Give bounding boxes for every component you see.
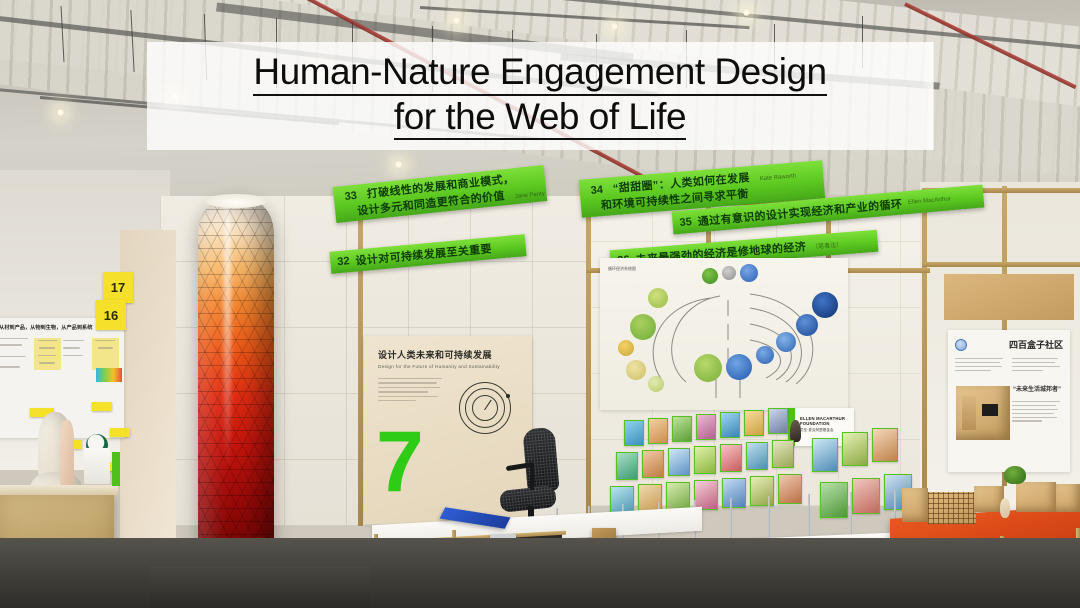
- diagram-node-blue: [796, 314, 818, 336]
- title-overlay: Human-Nature Engagement Design for the W…: [147, 42, 933, 150]
- exhibition-photo: 32 设计对可持续发展至关重要 33 打破线性的发展和商业模式， 设计多元和同造…: [0, 0, 1080, 608]
- sticky-note-16: 16: [96, 300, 126, 330]
- poster-card: [842, 432, 868, 466]
- ceiling-spotlight: [394, 160, 403, 169]
- architectural-model-box: [902, 488, 928, 522]
- poster-card: [720, 444, 742, 472]
- banner-credit: Jane Penty: [515, 190, 548, 200]
- floor-left-area: [150, 566, 370, 608]
- diagram-node-center: [722, 266, 736, 280]
- banner-number: 34: [583, 183, 609, 197]
- diagram-node-green: [648, 376, 664, 392]
- banner-number: 35: [672, 215, 698, 229]
- diagram-node-green: [626, 360, 646, 380]
- green-marker-tab: [112, 452, 120, 486]
- panel-numeral-7: 7: [376, 428, 424, 497]
- ceiling-spotlight: [56, 108, 65, 117]
- chair-backrest: [522, 427, 559, 494]
- dial-caption: [465, 376, 466, 380]
- sticky-note-small: [92, 402, 112, 411]
- logo-line-2: FOUNDATION: [800, 421, 850, 426]
- booth-frame-post: [922, 188, 927, 528]
- sticky-note-17: 17: [103, 272, 133, 303]
- sculpture-top-rim: [205, 194, 267, 208]
- timber-module-photo: [956, 386, 1010, 440]
- banner-number: 32: [330, 255, 356, 269]
- ceiling-spotlight: [452, 16, 461, 25]
- diagram-node-green: [648, 288, 668, 308]
- architectural-model-box: [1056, 484, 1080, 512]
- poster-card: [852, 478, 880, 514]
- title-line-2: for the Web of Life: [394, 97, 686, 141]
- poster-card: [648, 418, 668, 444]
- poster-card: [720, 412, 740, 438]
- poster-card: [642, 450, 664, 478]
- poster-card: [746, 442, 768, 470]
- right-exhibition-panel: 四百盒子社区 “未来生活城邦者”: [948, 330, 1070, 472]
- center-panel-title-cn: 设计人类未来和可持续发展: [378, 348, 522, 361]
- diagram-node-green: [630, 314, 656, 340]
- poster-card: [778, 474, 802, 504]
- potted-plant: [1004, 466, 1026, 484]
- red-3d-printed-column-sculpture: [198, 196, 274, 574]
- poster-card: [750, 476, 774, 506]
- poster-card: [820, 482, 848, 518]
- diagram-node-blue: [756, 346, 774, 364]
- title-line-1: Human-Nature Engagement Design: [253, 52, 826, 96]
- right-panel-quote: “未来生活城邦者”: [1012, 384, 1062, 393]
- model-figure: [1000, 498, 1010, 518]
- diagram-node-blue: [740, 264, 758, 282]
- ceiling-spotlight: [742, 8, 751, 17]
- poster-card: [694, 446, 716, 474]
- panel-icon: [955, 339, 967, 351]
- right-panel-model-strip: [944, 274, 1074, 320]
- diagram-node-blue: [812, 292, 838, 318]
- poster-card: [772, 440, 794, 468]
- banner-credit: Kate Raworth: [760, 173, 805, 183]
- gauge-endpoint-dot: [506, 394, 510, 398]
- sticky-note-label: 16: [104, 308, 118, 323]
- poster-card: [624, 420, 644, 446]
- sculpture-specular-highlight: [224, 204, 231, 469]
- poster-card: [668, 448, 690, 476]
- sticky-note-small: [110, 428, 130, 437]
- banner-credit: Ellen MacArthur: [908, 195, 959, 205]
- coffee-cup-prop: [84, 448, 110, 484]
- sticky-note-label: 17: [111, 280, 125, 295]
- architectural-model-box: [1016, 482, 1056, 512]
- diagram-node-green: [694, 354, 722, 382]
- poster-card: [672, 416, 692, 442]
- architectural-model-lattice: [928, 492, 976, 524]
- portrait-figure: [790, 420, 801, 442]
- sculpture-faceted-texture: [198, 196, 274, 574]
- banner-credit: （笔者注）: [812, 238, 851, 250]
- poster-card: [872, 428, 898, 462]
- booth-frame-beam: [922, 262, 1080, 267]
- diagram-node-center: [702, 268, 718, 284]
- white-chair-armrest: [60, 420, 74, 486]
- poster-card: [616, 452, 638, 480]
- poster-card: [696, 414, 716, 440]
- module-window: [982, 404, 998, 416]
- pedestal-top-surface: [0, 485, 118, 495]
- poster-card: [694, 480, 718, 510]
- booth-frame-post: [358, 196, 363, 526]
- diagram-node-blue: [776, 332, 796, 352]
- diagram-node-blue: [726, 354, 752, 380]
- ceiling-spotlight: [610, 22, 619, 31]
- diagram-node-green: [618, 340, 634, 356]
- poster-card: [722, 478, 746, 508]
- circular-economy-diagram-panel: 循环经济系统图: [600, 258, 848, 410]
- poster-card: [812, 438, 838, 472]
- booth-frame-post: [586, 200, 591, 520]
- poster-card: [768, 408, 788, 434]
- chair-armrest-post: [530, 466, 534, 490]
- color-swatch-strip: [96, 368, 122, 382]
- right-panel-title: 四百盒子社区: [1009, 338, 1063, 351]
- poster-card: [744, 410, 764, 436]
- module-panel: [962, 396, 976, 430]
